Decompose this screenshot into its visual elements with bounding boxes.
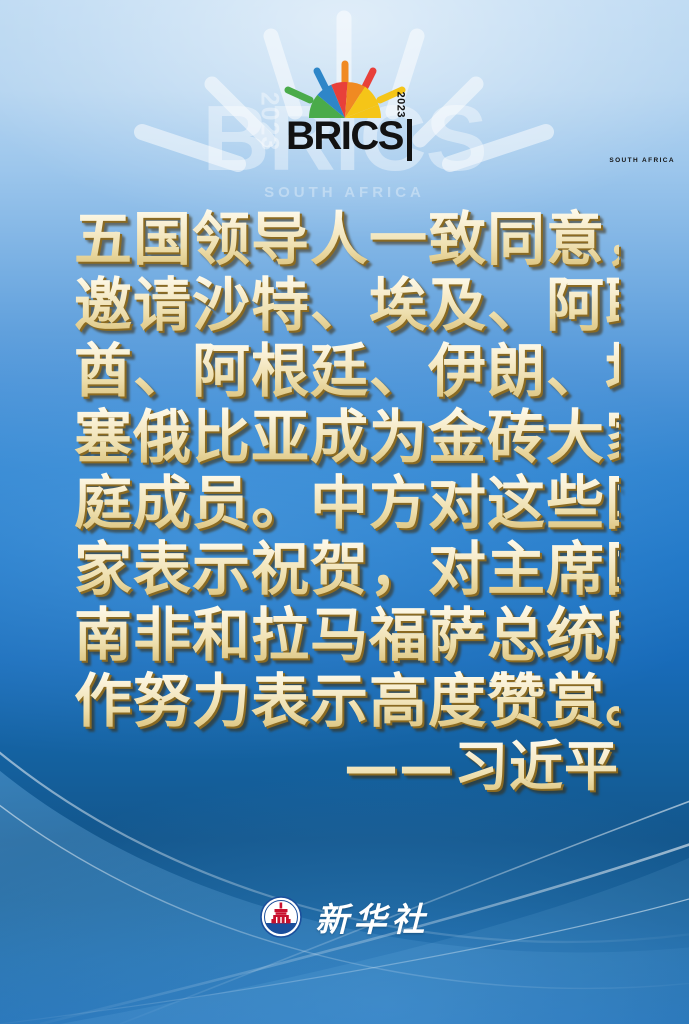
- brics-wordmark: BRICS: [286, 116, 403, 156]
- xinhua-agency-name: 新华社: [316, 893, 430, 941]
- poster-root: BRICS 2023 SOUTH AFRICA: [0, 0, 689, 1024]
- xinhua-emblem-icon: [260, 896, 302, 938]
- brics-logo-bar-icon: [407, 119, 412, 161]
- quote-line: 作努力表示高度赞赏。: [74, 668, 619, 734]
- quote-line: 家表示祝贺，对主席国: [74, 536, 619, 602]
- quote-line: 邀请沙特、埃及、阿联: [74, 272, 619, 338]
- xinhua-footer: 新华社: [0, 893, 689, 941]
- quote-line: 五国领导人一致同意，: [74, 206, 619, 272]
- quote-attribution: ——习近平: [74, 736, 619, 798]
- brics-logo-subtitle: SOUTH AFRICA: [0, 157, 689, 164]
- quote-block: 五国领导人一致同意， 邀请沙特、埃及、阿联 酋、阿根廷、伊朗、埃 塞俄比亚成为金…: [74, 206, 619, 734]
- quote-line: 塞俄比亚成为金砖大家: [74, 404, 619, 470]
- quote-line: 南非和拉马福萨总统所: [74, 602, 619, 668]
- quote-line: 庭成员。中方对这些国: [74, 470, 619, 536]
- brics-wordmark-group: BRICS 2023: [286, 116, 403, 156]
- brics-logo-year: 2023: [395, 92, 407, 118]
- watermark-subtitle: SOUTH AFRICA: [0, 186, 689, 200]
- brics-logo: BRICS 2023 SOUTH AFRICA: [0, 60, 689, 164]
- quote-line: 酋、阿根廷、伊朗、埃: [74, 338, 619, 404]
